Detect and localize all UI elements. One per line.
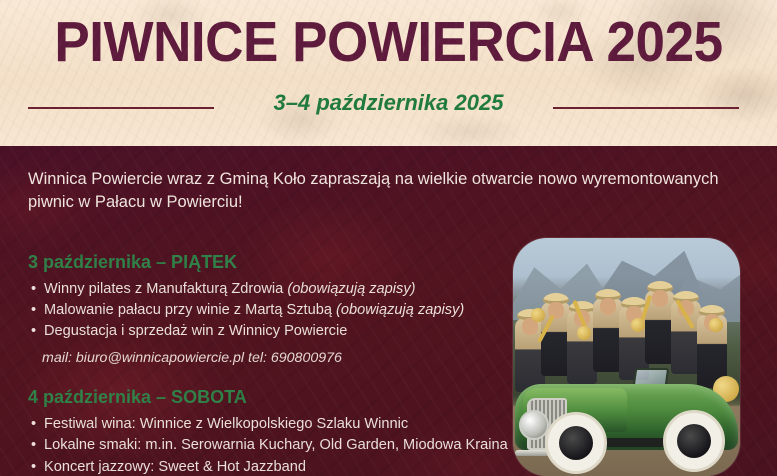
horn-bell-icon xyxy=(531,308,545,322)
poster-content: Winnica Powiercie wraz z Gminą Koło zapr… xyxy=(28,168,508,476)
face-icon xyxy=(652,290,668,307)
car-wheel-front xyxy=(545,412,607,474)
horn-bell-icon xyxy=(577,326,591,340)
event-date: 3–4 października 2025 xyxy=(0,92,777,114)
jazz-band-vintage-car-photo: Zespół jazzowy w zabytkowym zielonym kab… xyxy=(513,238,740,476)
list-item: Lokalne smaki: m.in. Serowarnia Kuchary,… xyxy=(28,435,508,456)
program-list-saturday: Festiwal wina: Winnice z Wielkopolskiego… xyxy=(28,414,508,476)
horn-bell-icon xyxy=(709,318,723,332)
list-item-text: Lokalne smaki: m.in. Serowarnia Kuchary,… xyxy=(44,437,508,453)
day-heading-friday: 3 października – PIĄTEK xyxy=(28,252,508,273)
list-item: Degustacja i sprzedaż win z Winnicy Powi… xyxy=(28,321,508,342)
page-title: PIWNICE POWIERCIA 2025 xyxy=(27,14,750,71)
car-headlamp-icon xyxy=(519,410,549,440)
contact-line[interactable]: mail: biuro@winnicapowiercie.pl tel: 690… xyxy=(42,348,508,369)
list-item-note: (obowiązują zapisy) xyxy=(336,302,464,318)
list-item-text: Winny pilates z Manufakturą Zdrowia xyxy=(44,281,287,297)
day-heading-saturday: 4 października – SOBOTA xyxy=(28,387,508,408)
face-icon xyxy=(600,298,616,315)
list-item: Winny pilates z Manufakturą Zdrowia (obo… xyxy=(28,279,508,300)
list-item-text: Malowanie pałacu przy winie z Martą Sztu… xyxy=(44,302,336,318)
list-item-text: Koncert jazzowy: Sweet & Hot Jazzband xyxy=(44,459,306,475)
list-item-text: Festiwal wina: Winnice z Wielkopolskiego… xyxy=(44,416,408,432)
horn-bell-icon xyxy=(631,318,645,332)
band-members xyxy=(513,284,740,396)
intro-paragraph: Winnica Powiercie wraz z Gminą Koło zapr… xyxy=(28,168,768,215)
list-item-text: Degustacja i sprzedaż win z Winnicy Powi… xyxy=(44,323,347,339)
program-list-friday: Winny pilates z Manufakturą Zdrowia (obo… xyxy=(28,279,508,343)
list-item: Festiwal wina: Winnice z Wielkopolskiego… xyxy=(28,414,508,435)
car-wheel-rear xyxy=(663,410,725,472)
list-item-note: (obowiązują zapisy) xyxy=(287,281,415,297)
list-item: Koncert jazzowy: Sweet & Hot Jazzband xyxy=(28,457,508,476)
photo-scene xyxy=(513,238,740,476)
event-poster: PIWNICE POWIERCIA 2025 3–4 października … xyxy=(0,0,777,476)
list-item: Malowanie pałacu przy winie z Martą Sztu… xyxy=(28,300,508,321)
poster-header-band: PIWNICE POWIERCIA 2025 3–4 października … xyxy=(0,0,777,146)
